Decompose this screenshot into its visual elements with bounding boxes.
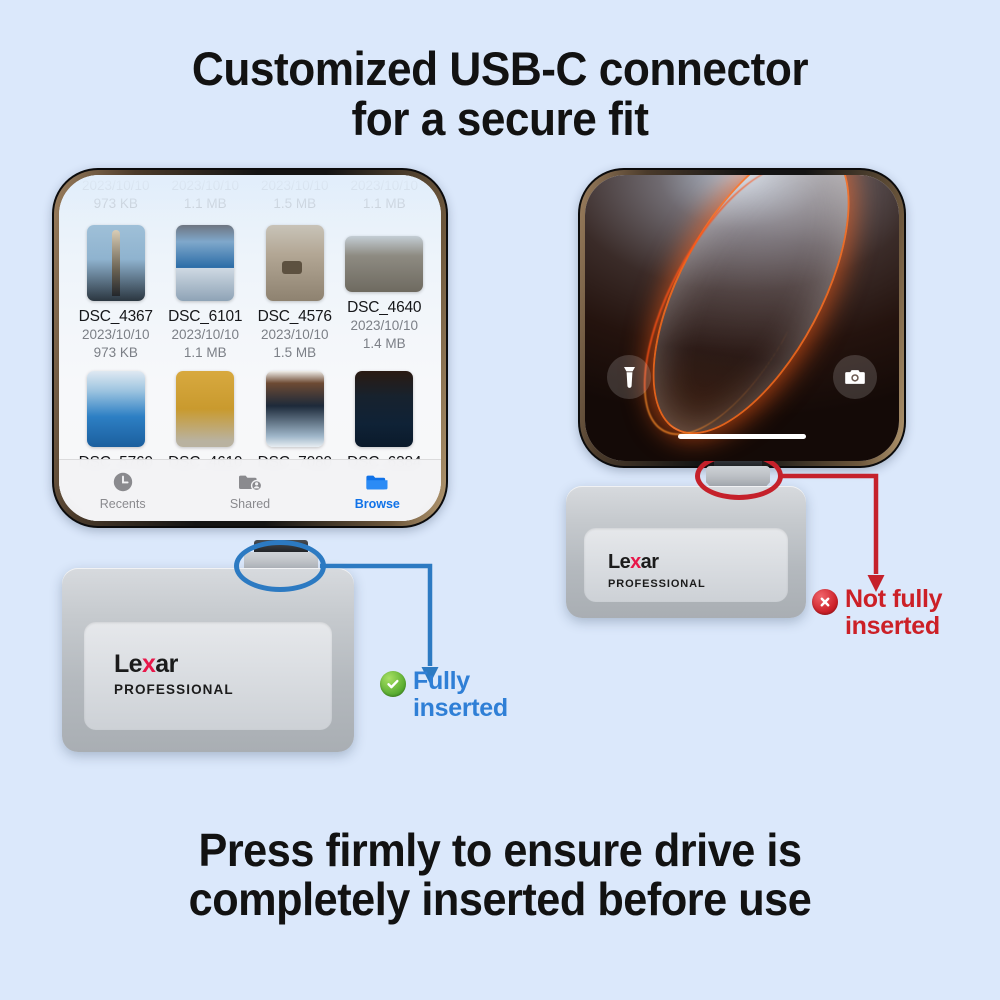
- file-meta-partial: 2023/10/10 1.1 MB: [161, 175, 251, 213]
- page-title: Customized USB-C connector for a secure …: [30, 44, 970, 144]
- ssd-label-panel: Lexar PROFESSIONAL: [584, 528, 788, 602]
- clock-icon: [110, 470, 136, 494]
- file-item[interactable]: DSC_4640 2023/10/10 1.4 MB: [340, 219, 430, 362]
- file-size: 1.1 MB: [184, 195, 227, 213]
- phone-right-screen: [585, 175, 899, 461]
- camera-button[interactable]: [833, 355, 877, 399]
- brand-x-accent: x: [630, 551, 641, 573]
- flashlight-icon: [621, 366, 638, 388]
- folder-icon: [364, 470, 390, 494]
- flashlight-button[interactable]: [607, 355, 651, 399]
- file-size: 1.4 MB: [363, 335, 406, 353]
- brand-post: ar: [641, 551, 659, 573]
- tab-label: Shared: [230, 497, 270, 511]
- brand-name: Lexar: [114, 652, 178, 677]
- file-meta-partial: 2023/10/10 1.5 MB: [250, 175, 340, 213]
- file-size: 1.5 MB: [273, 344, 316, 362]
- file-thumbnail: [87, 225, 145, 301]
- file-item[interactable]: DSC_6101 2023/10/10 1.1 MB: [161, 219, 251, 362]
- file-size: 1.5 MB: [273, 195, 316, 213]
- file-date: 2023/10/10: [261, 177, 329, 195]
- file-date: 2023/10/10: [350, 317, 418, 335]
- ssd-drive-right: Lexar PROFESSIONAL: [566, 486, 806, 618]
- callout-not-fully-inserted: Not fully inserted: [812, 586, 942, 639]
- headline-bottom-line2: completely inserted before use: [30, 875, 970, 924]
- ssd-drive-left: Lexar PROFESSIONAL: [62, 568, 354, 752]
- tab-label: Recents: [100, 497, 146, 511]
- file-date: 2023/10/10: [171, 177, 239, 195]
- lock-screen-wallpaper: [585, 175, 899, 461]
- file-size: 973 KB: [94, 344, 138, 362]
- lexar-logo: Lexar PROFESSIONAL: [608, 552, 706, 590]
- phone-left: 2023/10/10 973 KB 2023/10/10 1.1 MB 2023…: [52, 168, 448, 528]
- tab-label: Browse: [355, 497, 400, 511]
- phone-right: [578, 168, 906, 468]
- file-meta-partial: 2023/10/10 973 KB: [71, 175, 161, 213]
- phone-left-screen: 2023/10/10 973 KB 2023/10/10 1.1 MB 2023…: [59, 175, 441, 521]
- file-item[interactable]: DSC_7080: [250, 365, 340, 472]
- ssd-label-panel: Lexar PROFESSIONAL: [84, 622, 332, 730]
- file-date: 2023/10/10: [171, 326, 239, 344]
- product-instruction-graphic: Customized USB-C connector for a secure …: [0, 0, 1000, 1000]
- tab-recents[interactable]: Recents: [60, 470, 186, 511]
- headline-top-line1: Customized USB-C connector: [30, 44, 970, 94]
- camera-icon: [844, 368, 866, 386]
- file-thumbnail: [355, 371, 413, 447]
- file-size: 973 KB: [94, 195, 138, 213]
- file-grid-partial-top: 2023/10/10 973 KB 2023/10/10 1.1 MB 2023…: [59, 175, 441, 213]
- home-indicator: [678, 434, 806, 439]
- file-date: 2023/10/10: [82, 177, 150, 195]
- callout-line1: Fully: [413, 667, 470, 695]
- brand-post: ar: [155, 650, 177, 678]
- check-circle-icon: [380, 671, 406, 697]
- file-thumbnail: [176, 225, 234, 301]
- file-name: DSC_4576: [258, 308, 332, 326]
- file-item[interactable]: DSC_4367 2023/10/10 973 KB: [71, 219, 161, 362]
- brand-subtitle: PROFESSIONAL: [114, 682, 234, 697]
- file-date: 2023/10/10: [261, 326, 329, 344]
- file-item[interactable]: DSC_4610: [161, 365, 251, 472]
- callout-text: Not fully inserted: [845, 586, 942, 639]
- file-grid-row1: DSC_4367 2023/10/10 973 KB DSC_6101 2023…: [59, 219, 441, 362]
- file-date: 2023/10/10: [82, 326, 150, 344]
- file-item[interactable]: DSC_4576 2023/10/10 1.5 MB: [250, 219, 340, 362]
- file-grid-row2: DSC_5760 DSC_4610 DSC_7080 DSC_6384: [59, 365, 441, 472]
- shared-folder-icon: [237, 470, 263, 494]
- file-name: DSC_4640: [347, 299, 421, 317]
- callout-line1: Not fully: [845, 585, 942, 613]
- file-thumbnail: [176, 371, 234, 447]
- highlight-ellipse-ok: [234, 540, 326, 592]
- headline-top-line2: for a secure fit: [30, 94, 970, 144]
- file-name: DSC_6101: [168, 308, 242, 326]
- files-app: 2023/10/10 973 KB 2023/10/10 1.1 MB 2023…: [59, 175, 441, 521]
- file-thumbnail: [87, 371, 145, 447]
- brand-x-accent: x: [142, 650, 155, 678]
- brand-pre: Le: [608, 551, 630, 573]
- brand-name: Lexar: [608, 552, 658, 572]
- callout-text: Fully inserted: [413, 668, 508, 721]
- brand-pre: Le: [114, 650, 142, 678]
- callout-arrow-bad: [778, 470, 908, 600]
- tab-browse[interactable]: Browse: [314, 470, 440, 511]
- lexar-logo: Lexar PROFESSIONAL: [114, 652, 234, 697]
- file-date: 2023/10/10: [350, 177, 418, 195]
- x-circle-icon: [812, 589, 838, 615]
- callout-line2: inserted: [413, 694, 508, 722]
- callout-line2: inserted: [845, 612, 940, 640]
- file-item[interactable]: DSC_5760: [71, 365, 161, 472]
- callout-fully-inserted: Fully inserted: [380, 668, 508, 721]
- page-footer-title: Press firmly to ensure drive is complete…: [30, 826, 970, 924]
- file-size: 1.1 MB: [184, 344, 227, 362]
- brand-subtitle: PROFESSIONAL: [608, 578, 706, 590]
- file-meta-partial: 2023/10/10 1.1 MB: [340, 175, 430, 213]
- file-size: 1.1 MB: [363, 195, 406, 213]
- files-tab-bar: Recents Shared: [59, 459, 441, 521]
- tab-shared[interactable]: Shared: [187, 470, 313, 511]
- file-thumbnail: [266, 225, 324, 301]
- file-name: DSC_4367: [79, 308, 153, 326]
- headline-bottom-line1: Press firmly to ensure drive is: [30, 826, 970, 875]
- file-thumbnail: [266, 371, 324, 447]
- file-thumbnail: [345, 236, 423, 292]
- file-item[interactable]: DSC_6384: [340, 365, 430, 472]
